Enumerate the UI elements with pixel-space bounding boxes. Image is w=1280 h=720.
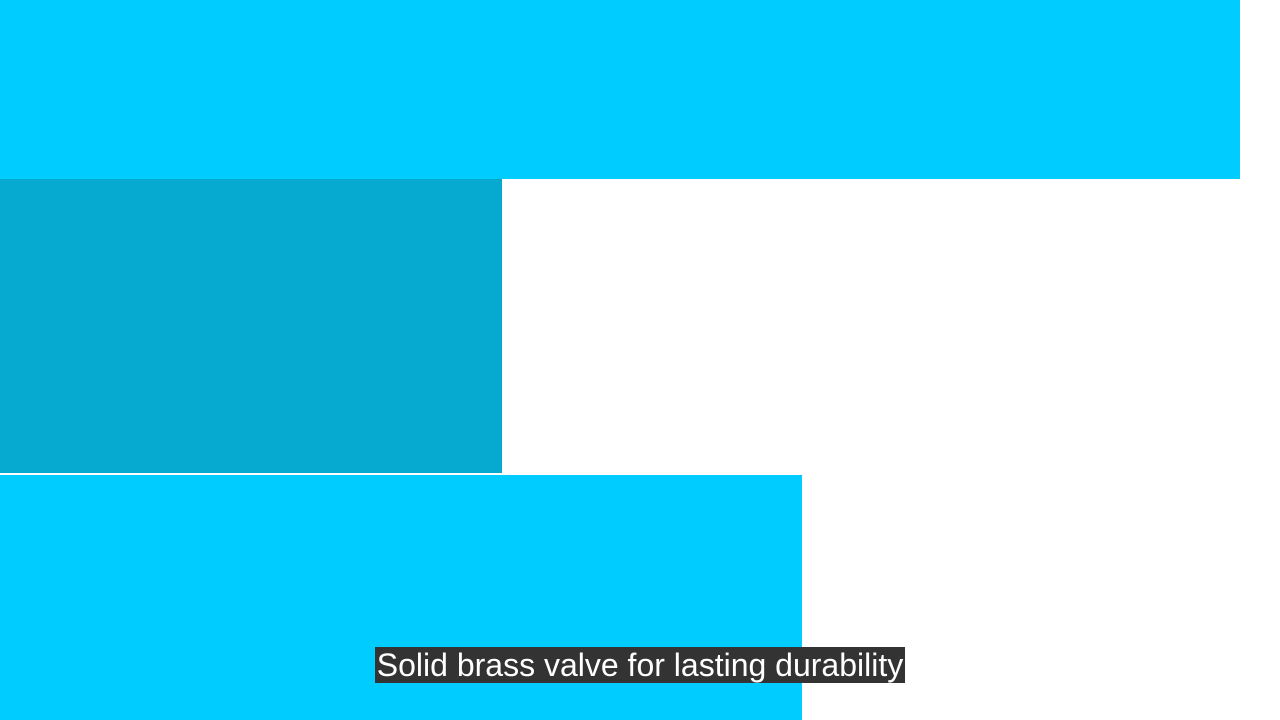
image-band-top	[0, 0, 1240, 179]
image-band-bottom	[0, 475, 802, 720]
screenshot-stage: Solid brass valve for lasting durability	[0, 0, 1280, 720]
image-band-middle	[0, 179, 502, 473]
